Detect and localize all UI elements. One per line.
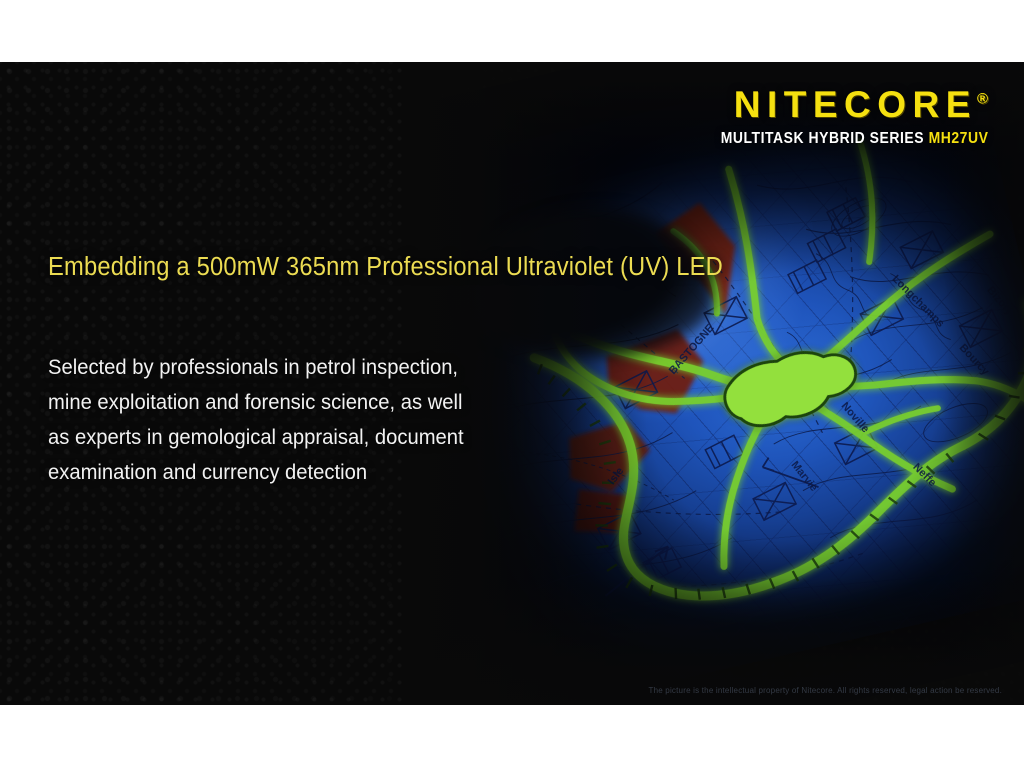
brand-lockup: NITECORE® MULTITASK HYBRID SERIESMH27UV [691, 86, 988, 148]
nitecore-wordmark: NITECORE® [691, 86, 988, 123]
nitecore-wordmark-text: NITECORE [734, 84, 977, 125]
svg-text:Marvie: Marvie [788, 459, 819, 494]
slide-content-band: BASTOGNE Longchamps Noville Bourcy Mande… [0, 62, 1024, 705]
svg-text:Bourcy: Bourcy [957, 342, 992, 379]
map-ink-features [404, 66, 1024, 641]
series-label: MULTITASK HYBRID SERIES [720, 130, 923, 147]
body-copy: Selected by professionals in petrol insp… [48, 350, 490, 490]
svg-text:Mande: Mande [622, 285, 651, 321]
map-front-line-ticks [536, 254, 1024, 629]
map-sheet: BASTOGNE Longchamps Noville Bourcy Mande… [404, 62, 1024, 705]
body-copy-line-4: examination and currency detection [48, 455, 490, 490]
headline: Embedding a 500mW 365nm Professional Ult… [48, 253, 723, 282]
body-copy-line-2: mine exploitation and forensic science, … [48, 385, 490, 420]
uv-map-photo: BASTOGNE Longchamps Noville Bourcy Mande… [404, 62, 1024, 705]
slide-canvas: BASTOGNE Longchamps Noville Bourcy Mande… [0, 0, 1024, 768]
body-copy-line-3: as experts in gemological appraisal, doc… [48, 420, 490, 455]
model-name: MH27UV [928, 130, 988, 147]
body-copy-line-1: Selected by professionals in petrol insp… [48, 350, 490, 385]
product-series-line: MULTITASK HYBRID SERIESMH27UV [720, 130, 988, 148]
registered-trademark-icon: ® [977, 91, 988, 108]
map-detail-layer: BASTOGNE Longchamps Noville Bourcy Mande… [404, 62, 1024, 705]
